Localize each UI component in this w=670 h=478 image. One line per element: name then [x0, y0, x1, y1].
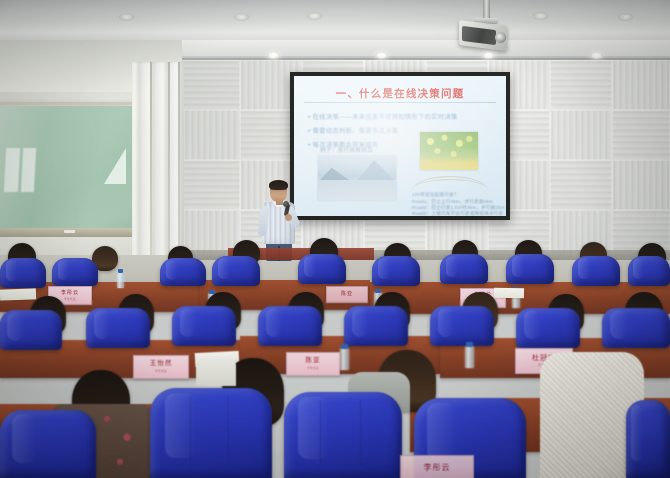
acoustic-panel [178, 160, 240, 210]
partition-seam [168, 62, 170, 272]
slide-divider [304, 102, 496, 103]
recessed-downlight [533, 12, 548, 20]
placard-name: 李彤云 [424, 464, 451, 472]
blue-auditorium-chair [440, 254, 488, 284]
window-reflection [4, 148, 20, 192]
flower-field-image [420, 132, 478, 170]
acoustic-panel [612, 110, 670, 160]
chalk-piece [64, 230, 75, 233]
acoustic-panel [550, 60, 612, 110]
handout-paper [0, 288, 36, 300]
acoustic-panel [178, 60, 240, 110]
slide-bullet-1: • 在线决策——未来信息不可预知情形下的实时决策 [308, 112, 458, 121]
acoustic-panel [612, 60, 670, 110]
road-shape [318, 180, 396, 200]
blue-auditorium-chair [344, 306, 408, 346]
microphone-head [283, 201, 289, 207]
chair-crease [190, 396, 191, 466]
blue-auditorium-chair [628, 256, 670, 286]
recessed-downlight [267, 52, 280, 59]
recessed-downlight [375, 52, 388, 59]
presenter-hand [285, 214, 292, 221]
blue-auditorium-chair [626, 400, 670, 478]
blue-auditorium-chair [150, 388, 272, 478]
bottle-cap [375, 289, 381, 293]
placard-subtitle: 学生代表 [64, 297, 76, 301]
bottle-cap [466, 342, 473, 347]
projector-mount [483, 0, 490, 20]
water-bottle [465, 346, 474, 368]
landscape-photo [318, 156, 396, 200]
placard-subtitle: 学生代表 [307, 366, 319, 370]
blue-auditorium-chair [506, 254, 554, 284]
blue-auditorium-chair [160, 258, 206, 286]
lecture-hall-photo: 一、什么是在线决策问题 • 在线决策——未来信息不可预知情形下的实时决策 • 需… [0, 0, 670, 478]
mountain-shape [356, 160, 396, 182]
slide-note-3: Road3：上坡汽车不合行走或降低快点行走 [412, 211, 503, 216]
acoustic-panel [178, 110, 240, 160]
chair-crease [360, 400, 361, 466]
name-placard: 陈亚 学生代表 [286, 352, 340, 376]
audience-body [196, 356, 236, 386]
name-placard: 李彤云 [400, 455, 474, 478]
recessed-downlight [307, 12, 322, 20]
blue-auditorium-chair [0, 258, 46, 288]
chair-crease [320, 400, 321, 466]
placard-name: 陈亚 [306, 358, 321, 365]
blue-auditorium-chair [284, 392, 402, 478]
blue-auditorium-chair [212, 256, 260, 286]
blue-auditorium-chair [0, 410, 96, 478]
handout-paper [494, 288, 524, 299]
blue-auditorium-chair [572, 256, 620, 286]
recessed-downlight [590, 52, 603, 59]
bottle-cap [118, 269, 123, 273]
partition-seam [178, 62, 180, 272]
acoustic-panel [550, 160, 612, 210]
placard-name: 陈亚 [341, 292, 353, 297]
blue-auditorium-chair [298, 254, 346, 284]
projection-screen: 一、什么是在线决策问题 • 在线决策——未来信息不可预知情形下的实时决策 • 需… [294, 76, 506, 216]
bottle-cap [341, 344, 348, 349]
recessed-downlight [482, 52, 495, 59]
name-placard: 陈亚 [326, 286, 368, 303]
blue-auditorium-chair [86, 308, 150, 348]
partition-seam [150, 62, 152, 272]
chair-crease [228, 396, 229, 466]
blue-auditorium-chair [516, 308, 580, 348]
name-placard: 王怡然 学生代表 [133, 355, 189, 379]
blue-auditorium-chair [430, 306, 494, 346]
blue-auditorium-chair [172, 306, 236, 346]
recessed-downlight [119, 13, 134, 21]
blue-auditorium-chair [602, 308, 670, 348]
slide-note-0: 100年徒往起路行驶？ [412, 192, 459, 198]
blue-auditorium-chair [52, 258, 98, 286]
blue-auditorium-chair [0, 310, 62, 350]
blue-auditorium-chair [258, 306, 322, 346]
placard-name: 李彤云 [61, 291, 79, 296]
water-bottle [117, 272, 124, 288]
water-bottle [340, 348, 349, 370]
placard-name: 王怡然 [150, 361, 173, 368]
slide-bullet-2: • 需要动态判断、需要多次决策 [308, 126, 398, 135]
light-reflection [104, 148, 126, 184]
recessed-downlight [234, 13, 249, 21]
placard-subtitle: 学生代表 [155, 369, 167, 373]
blue-auditorium-chair [372, 256, 420, 286]
slide-caption: 例子：旅行商推销员 [320, 146, 373, 154]
acoustic-panel [550, 110, 612, 160]
recessed-downlight [618, 13, 633, 21]
presenter-hair [269, 180, 288, 190]
acoustic-panel [612, 160, 670, 210]
window-reflection [21, 148, 36, 192]
folding-partition [132, 62, 184, 272]
projector-lens [495, 32, 506, 43]
slide-title: 一、什么是在线决策问题 [294, 86, 506, 101]
